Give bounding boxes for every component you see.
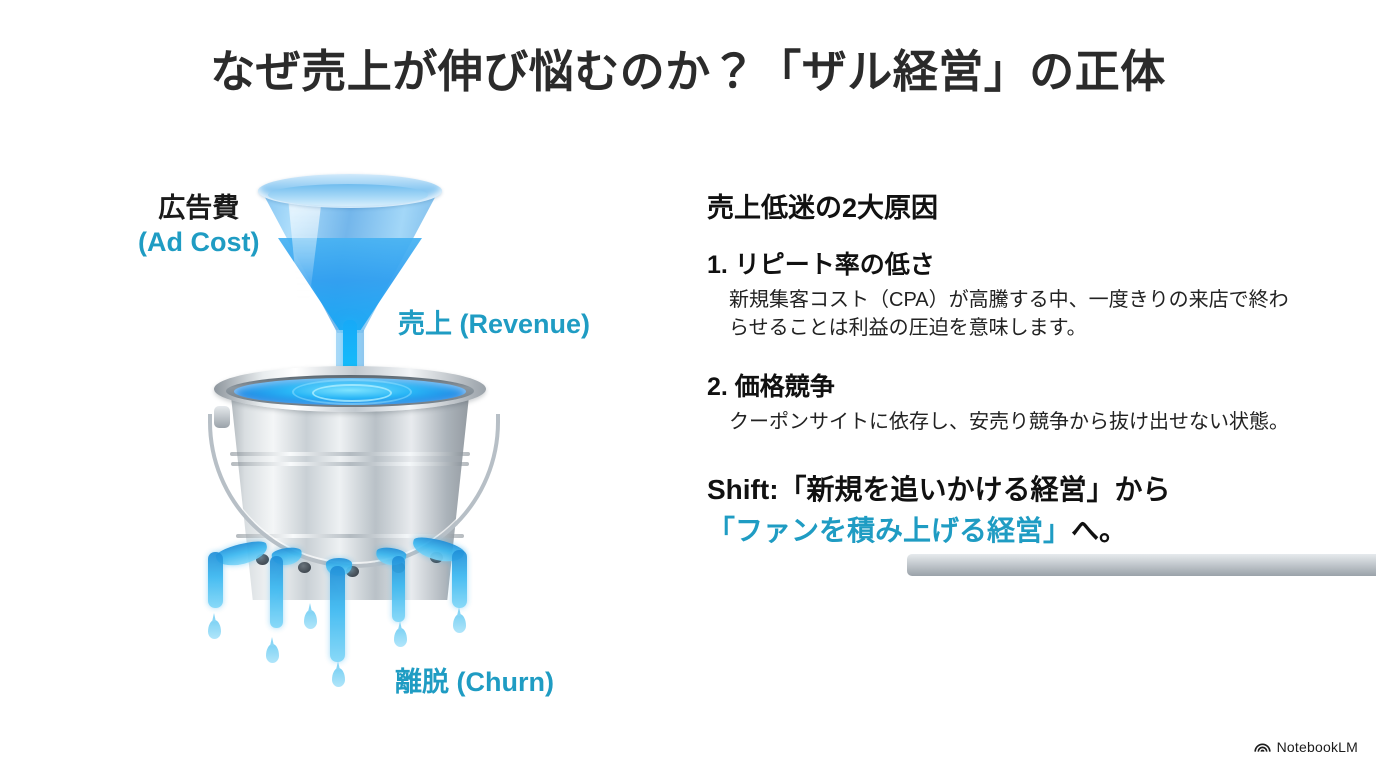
- cause-title: 2. 価格競争: [707, 372, 1307, 403]
- shift-highlight: 「ファンを積み上げる経営」: [707, 515, 1071, 546]
- cause-title: 1. リピート率の低さ: [707, 250, 1307, 281]
- bucket-hole: [298, 562, 311, 573]
- water-drip: [394, 628, 407, 647]
- label-ad-cost-jp: 広告費: [138, 192, 259, 226]
- cause-body: クーポンサイトに依存し、安売り競争から抜け出せない状態。: [729, 408, 1307, 436]
- right-panel-heading: 売上低迷の2大原因: [707, 192, 1307, 224]
- bucket-handle-knob: [214, 406, 230, 428]
- notebooklm-icon: [1254, 738, 1271, 756]
- leak-stream: [208, 552, 223, 608]
- leak-stream: [330, 566, 345, 662]
- water-drip: [332, 668, 345, 687]
- label-revenue: 売上 (Revenue): [398, 302, 590, 341]
- label-ad-cost: 広告費 (Ad Cost): [138, 192, 259, 260]
- leak-stream: [392, 556, 405, 622]
- water-ripple: [292, 379, 412, 405]
- water-drip: [208, 620, 221, 639]
- leak-stream: [270, 556, 283, 628]
- bucket-handle-knob: [907, 554, 1376, 576]
- bucket-graphic: [200, 362, 500, 612]
- cause-item-2: 2. 価格競争 クーポンサイトに依存し、安売り競争から抜け出せない状態。: [707, 372, 1307, 436]
- cause-body: 新規集客コスト（CPA）が高騰する中、一度きりの来店で終わらせることは利益の圧迫…: [729, 286, 1307, 343]
- shift-statement: Shift:「新規を追いかける経営」から 「ファンを積み上げる経営」へ。: [707, 470, 1307, 551]
- right-content-panel: 売上低迷の2大原因 1. リピート率の低さ 新規集客コスト（CPA）が高騰する中…: [707, 192, 1307, 551]
- notebooklm-watermark: NotebookLM: [1254, 738, 1358, 756]
- shift-prefix: Shift:「新規を追いかける経営」から: [707, 474, 1171, 505]
- water-drip: [453, 614, 466, 633]
- leak-stream: [452, 550, 467, 608]
- funnel-rim-inner: [268, 184, 428, 206]
- page-title: なぜ売上が伸び悩むのか？「ザル経営」の正体: [0, 46, 1376, 98]
- notebooklm-label: NotebookLM: [1277, 739, 1358, 755]
- water-drip: [304, 610, 317, 629]
- water-drip: [266, 644, 279, 663]
- cause-item-1: 1. リピート率の低さ 新規集客コスト（CPA）が高騰する中、一度きりの来店で終…: [707, 250, 1307, 342]
- label-ad-cost-en: (Ad Cost): [138, 226, 259, 260]
- funnel-rim: [258, 174, 442, 208]
- leaky-bucket-illustration: 広告費 (Ad Cost) 売上 (Revenue) 離脱 (Churn): [60, 150, 680, 730]
- label-churn: 離脱 (Churn): [395, 660, 554, 699]
- slide-root: なぜ売上が伸び悩むのか？「ザル経営」の正体: [0, 0, 1376, 768]
- shift-suffix: へ。: [1071, 515, 1127, 546]
